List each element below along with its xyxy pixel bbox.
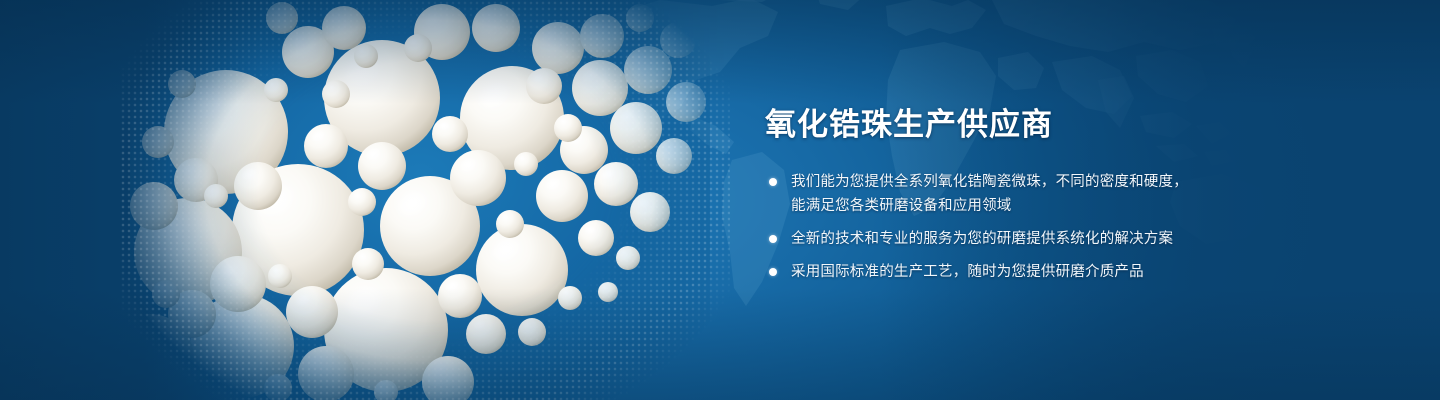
bullet-text-line: 我们能为您提供全系列氧化锆陶瓷微珠，不同的密度和硬度， [791,170,1365,194]
banner-bullet-item: 全新的技术和专业的服务为您的研磨提供系统化的解决方案 [765,227,1365,251]
banner-bullet-item: 我们能为您提供全系列氧化锆陶瓷微珠，不同的密度和硬度， 能满足您各类研磨设备和应… [765,170,1365,218]
bullet-dot-icon [769,268,777,276]
bullet-text-line: 采用国际标准的生产工艺，随时为您提供研磨介质产品 [791,260,1365,284]
banner-bullet-item: 采用国际标准的生产工艺，随时为您提供研磨介质产品 [765,260,1365,284]
banner-headline: 氧化锆珠生产供应商 [765,104,1365,146]
bullet-dot-icon [769,178,777,186]
bullet-text-line: 全新的技术和专业的服务为您的研磨提供系统化的解决方案 [791,227,1365,251]
banner-copy: 氧化锆珠生产供应商 我们能为您提供全系列氧化锆陶瓷微珠，不同的密度和硬度， 能满… [765,104,1365,284]
bullet-text-line: 能满足您各类研磨设备和应用领域 [791,194,1365,218]
hero-banner: 氧化锆珠生产供应商 我们能为您提供全系列氧化锆陶瓷微珠，不同的密度和硬度， 能满… [0,0,1440,400]
bullet-dot-icon [769,235,777,243]
banner-bullet-list: 我们能为您提供全系列氧化锆陶瓷微珠，不同的密度和硬度， 能满足您各类研磨设备和应… [765,170,1365,284]
